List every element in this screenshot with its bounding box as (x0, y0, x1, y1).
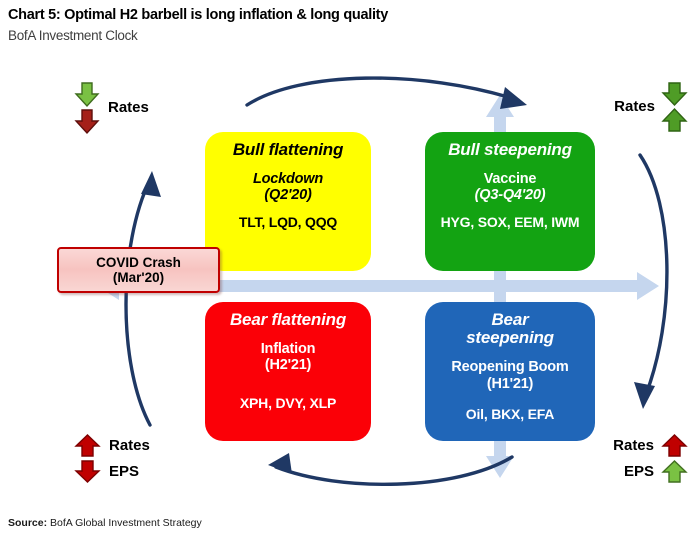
annotation-row-rates: Rates (613, 433, 688, 458)
quadrant-heading: Bull steepening (448, 141, 572, 159)
annotation-top-right: Rates (614, 81, 688, 133)
arrow-down-green-icon (74, 81, 100, 108)
source-line: Source: BofA Global Investment Strategy (8, 517, 202, 529)
arrow-down-green-icon (661, 81, 688, 107)
arrow-up-green-icon (661, 107, 688, 133)
covid-crash-callout[interactable]: COVID Crash (Mar'20) (57, 247, 220, 293)
arrow-down-darkred-icon (74, 108, 100, 135)
annotation-row-eps: EPS (74, 459, 150, 484)
quadrant-heading: Bear steepening (458, 311, 563, 347)
arrow-down-red-icon (74, 459, 101, 484)
quadrant-period: (Q2'20) (264, 187, 311, 203)
arrow-up-red-icon (661, 433, 688, 458)
quadrant-period: (H2'21) (265, 357, 311, 373)
page-title: Chart 5: Optimal H2 barbell is long infl… (8, 7, 388, 23)
quadrant-period: (H1'21) (487, 376, 533, 392)
callout-line-1: COVID Crash (96, 255, 181, 270)
curved-arrow-right-down-icon (640, 155, 667, 397)
quadrant-period: (Q3-Q4'20) (475, 187, 546, 203)
quadrant-bull-steepening[interactable]: Bull steepening Vaccine (Q3-Q4'20) HYG, … (425, 132, 595, 271)
annotation-top-left: Rates (74, 81, 149, 135)
curved-arrow-left-up-head-icon (141, 171, 161, 197)
annotation-row-rates: Rates (74, 433, 150, 458)
source-text: BofA Global Investment Strategy (50, 517, 202, 529)
quadrant-event: Reopening Boom (451, 359, 568, 375)
curved-arrow-bottom-left-head-icon (268, 453, 292, 474)
source-label: Source: (8, 517, 47, 529)
quadrant-tickers: HYG, SOX, EEM, IWM (440, 215, 580, 231)
annotation-label-eps: EPS (109, 463, 139, 481)
quadrant-event: Inflation (261, 341, 316, 357)
quadrant-tickers: Oil, BKX, EFA (466, 407, 554, 423)
curved-arrow-right-down-head-icon (634, 382, 655, 409)
annotation-row-eps: EPS (624, 459, 688, 484)
quadrant-bull-flattening[interactable]: Bull flattening Lockdown (Q2'20) TLT, LQ… (205, 132, 371, 271)
annotation-label-rates: Rates (109, 437, 150, 455)
investment-clock-diagram: Bull flattening Lockdown (Q2'20) TLT, LQ… (0, 55, 700, 510)
quadrant-bear-flattening[interactable]: Bear flattening Inflation (H2'21) XPH, D… (205, 302, 371, 441)
annotation-bottom-right: Rates EPS (613, 433, 688, 484)
curved-arrow-top-right-head-icon (500, 87, 527, 109)
quadrant-heading: Bull flattening (233, 141, 343, 159)
annotation-bottom-left: Rates EPS (74, 433, 150, 484)
arrow-up-green-icon (661, 459, 688, 484)
curved-arrow-bottom-left-icon (276, 457, 512, 484)
curved-arrow-top-right-icon (247, 78, 518, 105)
arrow-stack-top-left (74, 81, 100, 135)
quadrant-event: Lockdown (253, 171, 323, 187)
curved-arrow-left-up-icon (126, 180, 150, 425)
annotation-label-rates: Rates (613, 437, 654, 455)
quadrant-event: Vaccine (484, 171, 537, 187)
annotation-label-rates: Rates (108, 99, 149, 117)
quadrant-heading: Bear flattening (230, 311, 346, 329)
callout-line-2: (Mar'20) (113, 270, 164, 285)
arrow-stack-top-right (661, 81, 688, 133)
quadrant-tickers: TLT, LQD, QQQ (239, 215, 337, 231)
annotation-label-rates: Rates (614, 98, 655, 116)
arrow-up-red-icon (74, 433, 101, 458)
page-subtitle: BofA Investment Clock (8, 28, 138, 43)
quadrant-bear-steepening[interactable]: Bear steepening Reopening Boom (H1'21) O… (425, 302, 595, 441)
quadrant-tickers: XPH, DVY, XLP (240, 396, 336, 412)
annotation-label-eps: EPS (624, 463, 654, 481)
